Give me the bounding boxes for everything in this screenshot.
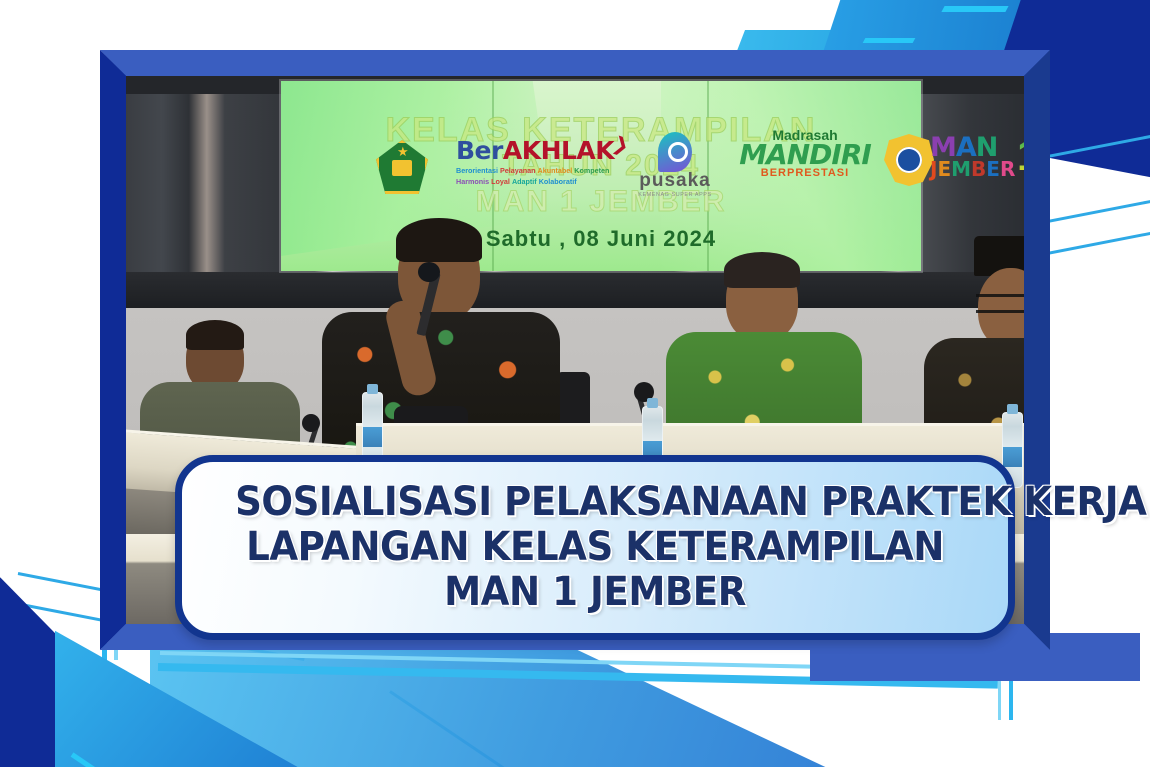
- berakhlak-wordmark: BerAKHLAK❯: [456, 136, 614, 165]
- berakhlak-values-line-1: BerorientasiPelayananAkuntabelKompeten: [456, 166, 614, 176]
- madrasah-mandiri-logo: Madrasah MANDIRI BERPRESTASI: [730, 128, 880, 179]
- pusaka-mark-icon: [658, 132, 692, 172]
- deco-left-diagonal-4: [389, 690, 556, 767]
- value-kompeten: Kompeten: [574, 166, 609, 175]
- mandiri-wordmark: MANDIRI: [730, 142, 880, 168]
- deco-top-right-spark-1: [941, 6, 1008, 12]
- deco-bottom-sweep-line-1: [158, 663, 998, 689]
- frame-bevel-right: [1024, 50, 1050, 650]
- pusaka-logo: pusaka KEMENAG SUPER APPS: [630, 132, 720, 198]
- numeral-one: 1: [1017, 134, 1024, 178]
- handheld-mic-head: [418, 262, 440, 282]
- frame-bevel-top: [100, 50, 1050, 76]
- value-harmonis: Harmonis: [456, 177, 489, 186]
- value-adaptif: Adaptif: [512, 177, 537, 186]
- berakhlak-prefix: Ber: [456, 136, 503, 165]
- caption-line-1: SOSIALISASI PELAKSANAAN PRAKTEK KERJA: [235, 480, 955, 525]
- speaker-hair: [396, 218, 482, 262]
- kemenag-pentagon-icon: ★: [376, 140, 428, 194]
- logo-row: ★ BerAKHLAK❯ BerorientasiPelayananAkunta…: [278, 134, 938, 196]
- berakhlak-main: AKHLAK: [503, 136, 614, 165]
- berakhlak-values-line-2: HarmonisLoyalAdaptifKolaboratif: [456, 177, 614, 187]
- value-kolaboratif: Kolaboratif: [539, 177, 577, 186]
- school-crest-logo: [884, 134, 934, 186]
- deco-bottom-sweep-line-2: [160, 651, 990, 672]
- frame-bevel-left: [100, 50, 126, 650]
- value-loyal: Loyal: [491, 177, 510, 186]
- caption-plate: SOSIALISASI PELAKSANAAN PRAKTEK KERJA LA…: [175, 455, 1015, 640]
- screen-event-date: Sabtu , 08 Juni 2024: [281, 226, 921, 252]
- deco-top-right-spark-2: [863, 38, 916, 43]
- eyeglasses-icon: [976, 294, 1024, 313]
- gooseneck-mic-head-3: [302, 414, 320, 432]
- crest-shield-icon: [884, 134, 934, 186]
- kemenag-logo: ★: [376, 140, 428, 194]
- berakhlak-logo: BerAKHLAK❯ BerorientasiPelayananAkuntabe…: [456, 136, 614, 186]
- value-pelayanan: Pelayanan: [500, 166, 536, 175]
- deco-bottom-left-cyan-line: [71, 752, 264, 767]
- pusaka-tagline: KEMENAG SUPER APPS: [630, 192, 720, 198]
- bottle-label-3: [1003, 447, 1022, 467]
- caption-line-3: MAN 1 JEMBER: [235, 570, 955, 615]
- value-berorientasi: Berorientasi: [456, 166, 498, 175]
- caption-text-block: SOSIALISASI PELAKSANAAN PRAKTEK KERJA LA…: [182, 480, 1008, 615]
- bottle-label-1: [363, 427, 382, 447]
- room-panel-base: [126, 272, 1024, 308]
- center-hair: [724, 252, 800, 288]
- pusaka-wordmark: pusaka: [630, 170, 720, 192]
- value-akuntabel: Akuntabel: [538, 166, 573, 175]
- person-left-hair: [186, 320, 244, 350]
- jember-wordmark: JEMBER: [930, 160, 1015, 179]
- caption-line-2: LAPANGAN KELAS KETERAMPILAN: [235, 525, 955, 570]
- man1-jember-wordmark-logo: MAN JEMBER 1: [930, 136, 1015, 179]
- poster-root: KELAS KETERAMPILAN TAHUN 2024 MAN 1 JEMB…: [0, 0, 1150, 767]
